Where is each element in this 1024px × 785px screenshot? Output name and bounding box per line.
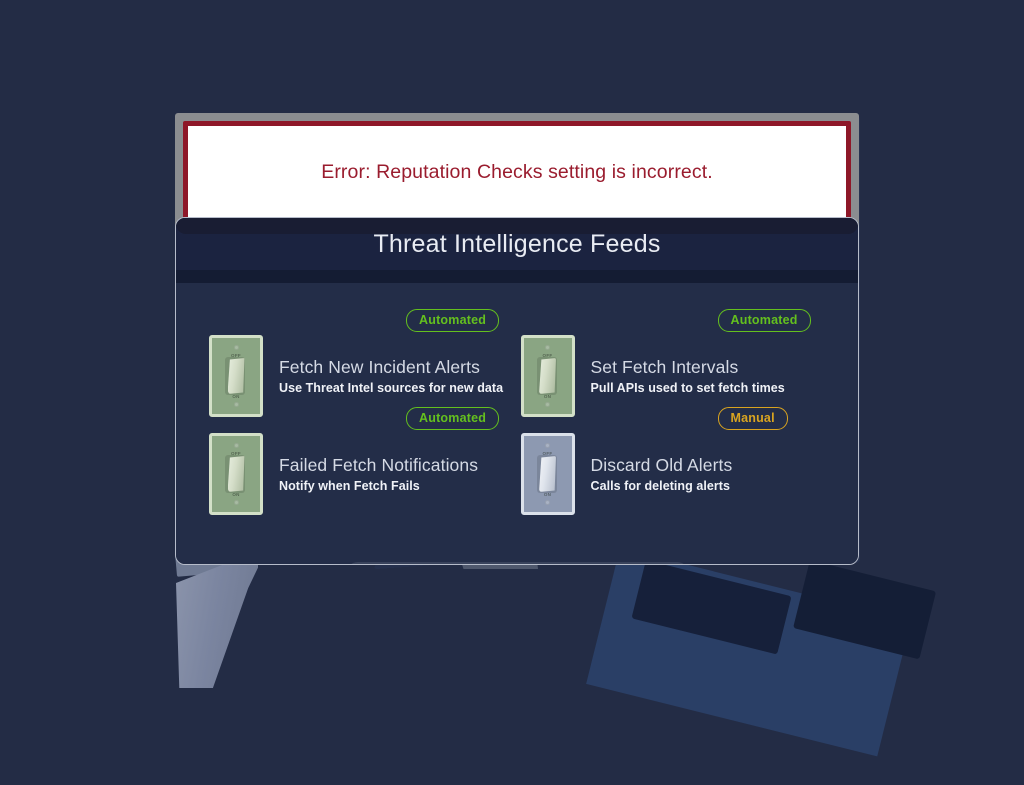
ok-button[interactable]: Ok: [346, 562, 689, 565]
panel-header-shadow: [176, 218, 858, 234]
switch-lever-icon: [539, 456, 556, 492]
panel-body: Automated OFF ON Fetch New Incident Aler…: [176, 283, 858, 565]
feed-item-set-fetch-intervals[interactable]: Automated OFF ON Set Fetch Intervals Pul…: [521, 338, 833, 414]
plate-screw-top-icon: [234, 443, 239, 448]
toggle-switch[interactable]: OFF ON: [209, 433, 263, 515]
plate-screw-bottom-icon: [545, 500, 550, 505]
error-message: Error: Reputation Checks setting is inco…: [321, 161, 713, 184]
plate-screw-bottom-icon: [234, 500, 239, 505]
toggle-switch[interactable]: OFF ON: [209, 335, 263, 417]
status-badge: Automated: [406, 407, 499, 430]
feed-item-discard-old-alerts[interactable]: Manual OFF ON Discard Old Alerts Calls f…: [521, 436, 833, 512]
switch-lever-icon: [539, 358, 556, 394]
monitor-stand: [176, 560, 258, 688]
switch-label-on: ON: [212, 492, 260, 497]
threat-intelligence-feeds-panel: Threat Intelligence Feeds Automated OFF …: [175, 217, 859, 565]
switch-label-on: ON: [524, 492, 572, 497]
status-badge: Manual: [718, 407, 788, 430]
feed-subtitle: Use Threat Intel sources for new data: [279, 381, 503, 395]
plate-screw-top-icon: [545, 345, 550, 350]
switch-lever-icon: [228, 456, 245, 492]
plate-screw-top-icon: [545, 443, 550, 448]
feed-text: Failed Fetch Notifications Notify when F…: [279, 455, 478, 493]
toggle-switch[interactable]: OFF ON: [521, 335, 575, 417]
feed-item-failed-fetch-notifications[interactable]: Automated OFF ON Failed Fetch Notificati…: [209, 436, 521, 512]
switch-lever-icon: [228, 358, 245, 394]
status-badge: Automated: [406, 309, 499, 332]
feed-subtitle: Notify when Fetch Fails: [279, 479, 478, 493]
feed-subtitle: Calls for deleting alerts: [591, 479, 733, 493]
feed-title: Fetch New Incident Alerts: [279, 357, 503, 378]
feed-text: Discard Old Alerts Calls for deleting al…: [591, 455, 733, 493]
panel-header: Threat Intelligence Feeds: [176, 218, 858, 270]
feed-title: Failed Fetch Notifications: [279, 455, 478, 476]
switch-label-on: ON: [524, 394, 572, 399]
feed-title: Discard Old Alerts: [591, 455, 733, 476]
feed-subtitle: Pull APIs used to set fetch times: [591, 381, 785, 395]
feed-item-fetch-new-incident-alerts[interactable]: Automated OFF ON Fetch New Incident Aler…: [209, 338, 521, 414]
status-badge: Automated: [718, 309, 811, 332]
feeds-list: Automated OFF ON Fetch New Incident Aler…: [176, 283, 858, 512]
feed-text: Set Fetch Intervals Pull APIs used to se…: [591, 357, 785, 395]
feed-title: Set Fetch Intervals: [591, 357, 785, 378]
plate-screw-bottom-icon: [234, 402, 239, 407]
panel-header-strip: [176, 270, 858, 283]
plate-screw-top-icon: [234, 345, 239, 350]
error-dialog-body: Error: Reputation Checks setting is inco…: [188, 126, 846, 219]
switch-label-on: ON: [212, 394, 260, 399]
error-dialog: Error: Reputation Checks setting is inco…: [175, 113, 859, 232]
plate-screw-bottom-icon: [545, 402, 550, 407]
error-dialog-border: Error: Reputation Checks setting is inco…: [183, 121, 851, 224]
toggle-switch[interactable]: OFF ON: [521, 433, 575, 515]
feed-text: Fetch New Incident Alerts Use Threat Int…: [279, 357, 503, 395]
